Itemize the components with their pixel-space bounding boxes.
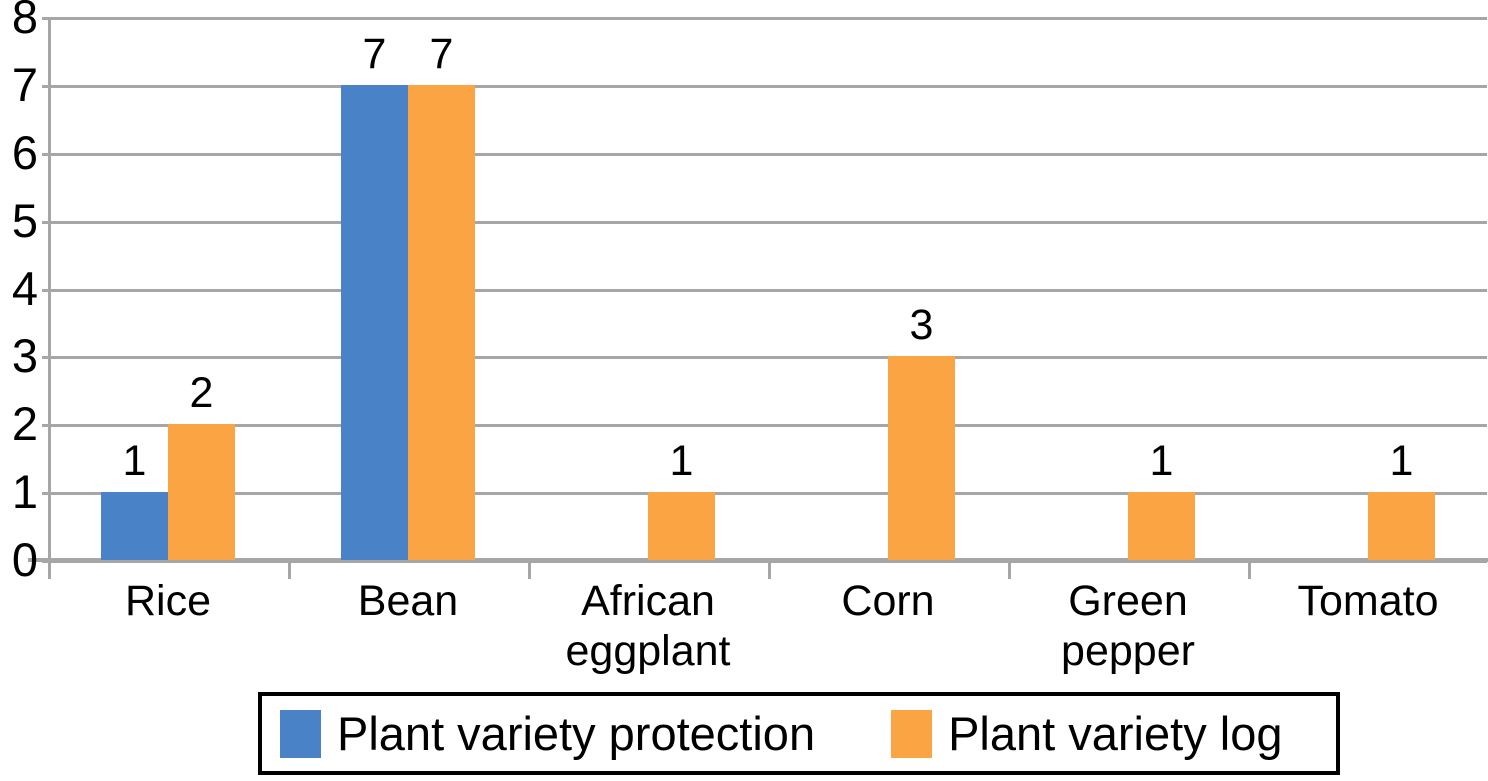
- x-axis-label-african-eggplant: Africaneggplant: [528, 576, 768, 676]
- legend-label-plant-variety-log: Plant variety log: [948, 710, 1282, 757]
- value-label-corn-plant-variety-log: 3: [888, 304, 955, 347]
- bar-chart: 876543210 12771311 RiceBeanAfricaneggpla…: [0, 0, 1488, 781]
- bars-layer: [0, 17, 1488, 560]
- bar-rice-plant-variety-log: [168, 424, 235, 560]
- x-axis-label-line: Corn: [768, 576, 1008, 626]
- value-label-rice-plant-variety-log: 2: [168, 372, 235, 415]
- bar-african-eggplant-plant-variety-log: [648, 492, 715, 560]
- bar-tomato-plant-variety-log: [1368, 492, 1435, 560]
- x-axis-label-line: pepper: [1008, 626, 1248, 676]
- chart-legend: Plant variety protection Plant variety l…: [258, 692, 1340, 775]
- value-label-rice-plant-variety-protection: 1: [101, 440, 168, 483]
- value-label-green-pepper-plant-variety-log: 1: [1128, 440, 1195, 483]
- x-axis-label-line: Tomato: [1248, 576, 1488, 626]
- legend-item-plant-variety-protection: Plant variety protection: [280, 710, 815, 758]
- legend-swatch-plant-variety-protection: [280, 710, 321, 758]
- x-axis-label-line: eggplant: [528, 626, 768, 676]
- bar-rice-plant-variety-protection: [101, 492, 168, 560]
- value-label-african-eggplant-plant-variety-log: 1: [648, 440, 715, 483]
- x-axis-label-line: Rice: [48, 576, 288, 626]
- bar-green-pepper-plant-variety-log: [1128, 492, 1195, 560]
- x-axis-label-green-pepper: Greenpepper: [1008, 576, 1248, 676]
- x-axis-label-line: Green: [1008, 576, 1248, 626]
- x-axis-label-line: Bean: [288, 576, 528, 626]
- value-label-bean-plant-variety-protection: 7: [341, 33, 408, 76]
- x-axis-label-corn: Corn: [768, 576, 1008, 626]
- legend-item-plant-variety-log: Plant variety log: [891, 710, 1282, 758]
- value-label-bean-plant-variety-log: 7: [408, 33, 475, 76]
- bar-bean-plant-variety-protection: [341, 85, 408, 560]
- x-axis-label-line: African: [528, 576, 768, 626]
- x-axis-label-bean: Bean: [288, 576, 528, 626]
- bar-bean-plant-variety-log: [408, 85, 475, 560]
- value-label-tomato-plant-variety-log: 1: [1368, 440, 1435, 483]
- x-axis-label-tomato: Tomato: [1248, 576, 1488, 626]
- legend-swatch-plant-variety-log: [891, 710, 932, 758]
- legend-label-plant-variety-protection: Plant variety protection: [337, 710, 815, 757]
- bar-corn-plant-variety-log: [888, 356, 955, 560]
- x-axis-label-rice: Rice: [48, 576, 288, 626]
